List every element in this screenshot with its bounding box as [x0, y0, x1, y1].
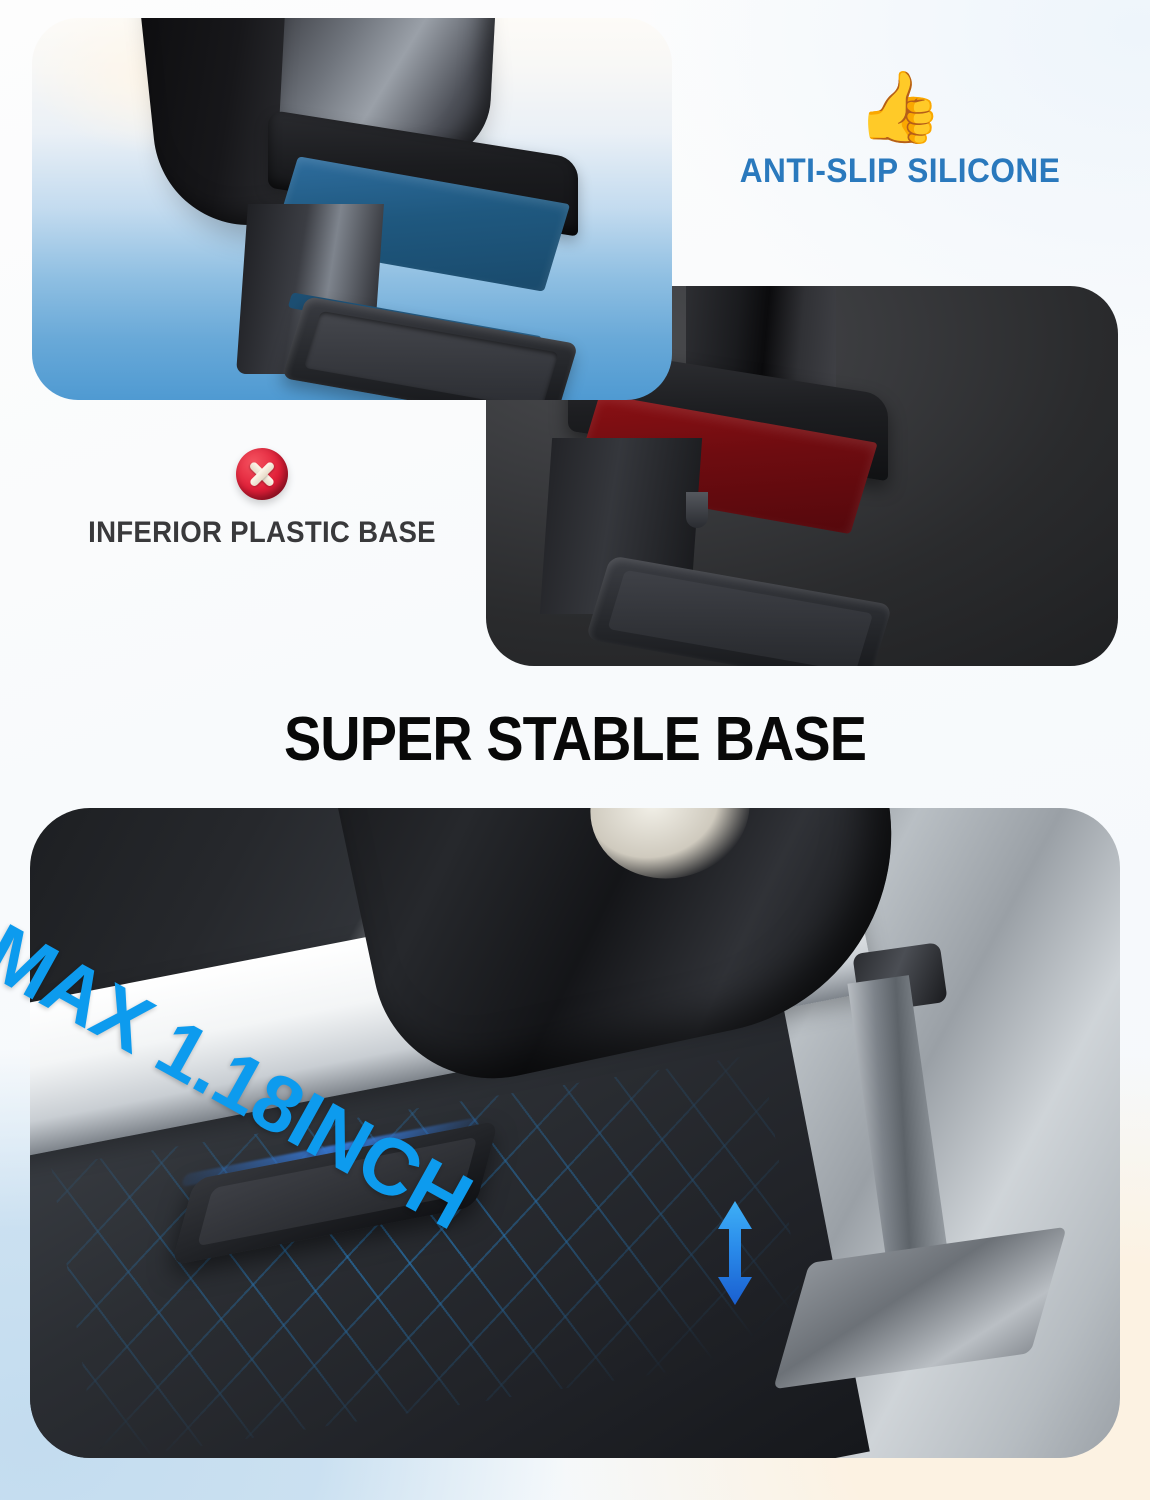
anti-slip-label: ANTI-SLIP SILICONE — [705, 152, 1096, 191]
inferior-plastic-label-block: INFERIOR PLASTIC BASE — [28, 448, 496, 550]
panel-super-stable-base-photo — [30, 808, 1120, 1458]
page-title: SUPER STABLE BASE — [58, 704, 1093, 775]
clamp-latch-tab — [686, 492, 708, 528]
up-down-adjust-arrow — [714, 1199, 756, 1307]
inferior-plastic-label: INFERIOR PLASTIC BASE — [47, 516, 478, 550]
thumbs-up-sparkle-emoji-icon: 👍 — [690, 72, 1110, 142]
panel-anti-slip-photo — [32, 18, 672, 400]
monitor-stand-pole — [847, 975, 950, 1281]
red-x-circle-icon — [236, 448, 288, 500]
clamp-lower-jaw-dark — [585, 555, 892, 666]
clamp-lower-jaw — [282, 296, 579, 400]
anti-slip-label-block: 👍 ANTI-SLIP SILICONE — [690, 72, 1110, 191]
